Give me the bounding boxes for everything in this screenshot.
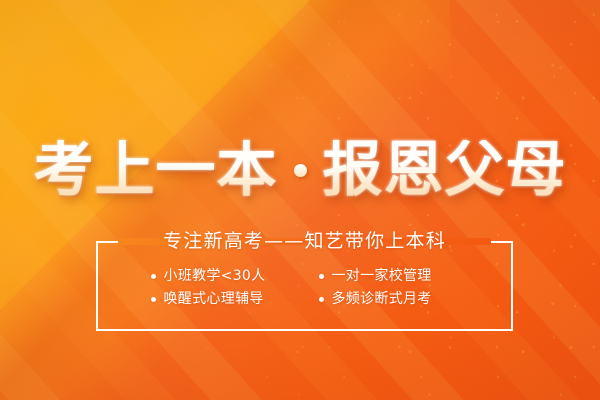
feature-item: 多频诊断式月考 — [319, 290, 459, 308]
feature-item: 一对一家校管理 — [319, 267, 459, 285]
headline-separator-dot-icon — [294, 164, 307, 177]
bullet-dot-icon — [151, 297, 156, 302]
feature-item: 小班教学<30人 — [151, 267, 291, 285]
bullet-dot-icon — [151, 274, 156, 279]
feature-item: 唤醒式心理辅导 — [151, 290, 291, 308]
feature-panel: 专注新高考——知艺带你上本科 小班教学<30人 一对一家校管理 唤醒式心理辅导 — [96, 241, 513, 331]
headline: 考上一本 报恩父母 — [0, 140, 600, 200]
feature-label: 多频诊断式月考 — [332, 290, 432, 308]
bullet-dot-icon — [319, 274, 324, 279]
feature-label: 一对一家校管理 — [332, 267, 432, 285]
feature-list: 小班教学<30人 一对一家校管理 唤醒式心理辅导 多频诊断式月考 — [96, 267, 513, 308]
feature-row: 小班教学<30人 一对一家校管理 — [151, 267, 459, 285]
subtitle: 专注新高考——知艺带你上本科 — [96, 229, 513, 253]
bullet-dot-icon — [319, 297, 324, 302]
headline-left-text: 考上一本 — [34, 140, 278, 200]
headline-right-text: 报恩父母 — [323, 140, 567, 200]
promo-banner: 考上一本 报恩父母 专注新高考——知艺带你上本科 小班教学<30人 一对一家校管… — [0, 0, 600, 400]
feature-label: 唤醒式心理辅导 — [164, 290, 264, 308]
feature-label: 小班教学<30人 — [164, 267, 266, 285]
feature-row: 唤醒式心理辅导 多频诊断式月考 — [151, 290, 459, 308]
